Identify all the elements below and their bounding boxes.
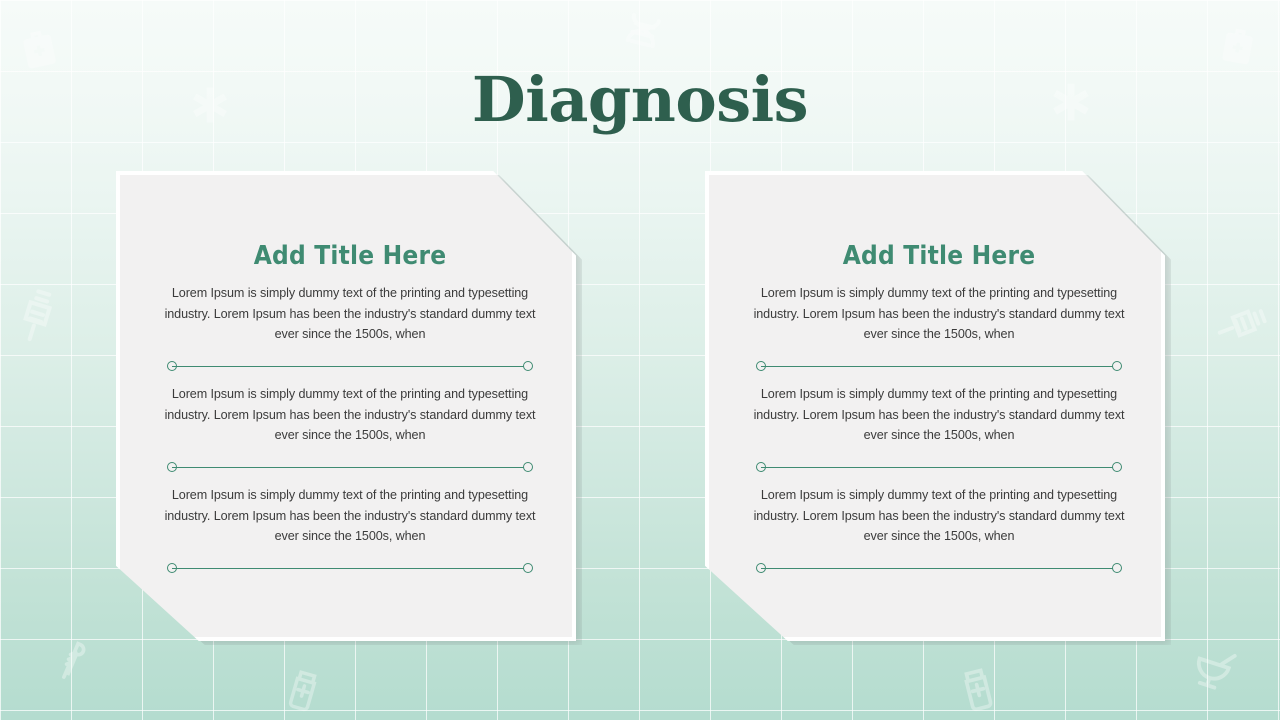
card-left-divider-2 (167, 462, 533, 473)
diagnosis-card-right[interactable]: Add Title Here Lorem Ipsum is simply dum… (705, 171, 1165, 641)
first-aid-kit-icon (1215, 23, 1261, 69)
divider-line (761, 366, 1117, 367)
card-left-divider-3 (167, 563, 533, 574)
divider-line (761, 467, 1117, 468)
diagnosis-card-left[interactable]: Add Title Here Lorem Ipsum is simply dum… (116, 171, 576, 641)
mortar-icon (1184, 638, 1242, 696)
syringe-icon (6, 280, 71, 345)
divider-line (172, 366, 528, 367)
card-title-right: Add Title Here (709, 241, 1169, 271)
card-right-divider-3 (756, 563, 1122, 574)
card-right-block-1: Lorem Ipsum is simply dummy text of the … (709, 283, 1169, 372)
card-left-block-1: Lorem Ipsum is simply dummy text of the … (120, 283, 580, 372)
card-left-divider-1 (167, 361, 533, 372)
pill-bottle-icon (277, 665, 329, 717)
divider-endpoint-dot-right (523, 563, 533, 573)
card-title-left: Add Title Here (120, 241, 580, 271)
divider-line (172, 568, 528, 569)
card-left-paragraph-3: Lorem Ipsum is simply dummy text of the … (162, 485, 538, 547)
pill-bottle-icon (951, 663, 1004, 716)
card-right-divider-2 (756, 462, 1122, 473)
first-aid-kit-icon (14, 24, 64, 74)
page-title: Diagnosis (0, 69, 1280, 131)
card-right-paragraph-1: Lorem Ipsum is simply dummy text of the … (751, 283, 1127, 345)
card-right-paragraph-2: Lorem Ipsum is simply dummy text of the … (751, 384, 1127, 446)
card-right-paragraph-3: Lorem Ipsum is simply dummy text of the … (751, 485, 1127, 547)
card-right-block-3: Lorem Ipsum is simply dummy text of the … (709, 485, 1169, 574)
syringe-icon (1215, 293, 1276, 354)
divider-endpoint-dot-right (1112, 361, 1122, 371)
thermometer-icon (43, 629, 100, 686)
divider-line (172, 467, 528, 468)
slide-canvas: Diagnosis Add Title Here Lorem Ipsum is … (0, 0, 1280, 720)
card-right-divider-1 (756, 361, 1122, 372)
divider-endpoint-dot-right (523, 361, 533, 371)
card-left-block-2: Lorem Ipsum is simply dummy text of the … (120, 384, 580, 473)
divider-line (761, 568, 1117, 569)
divider-endpoint-dot-right (1112, 462, 1122, 472)
dna-icon (615, 9, 668, 62)
card-left-paragraph-2: Lorem Ipsum is simply dummy text of the … (162, 384, 538, 446)
card-left-block-3: Lorem Ipsum is simply dummy text of the … (120, 485, 580, 574)
card-right-block-2: Lorem Ipsum is simply dummy text of the … (709, 384, 1169, 473)
divider-endpoint-dot-right (1112, 563, 1122, 573)
divider-endpoint-dot-right (523, 462, 533, 472)
card-left-paragraph-1: Lorem Ipsum is simply dummy text of the … (162, 283, 538, 345)
